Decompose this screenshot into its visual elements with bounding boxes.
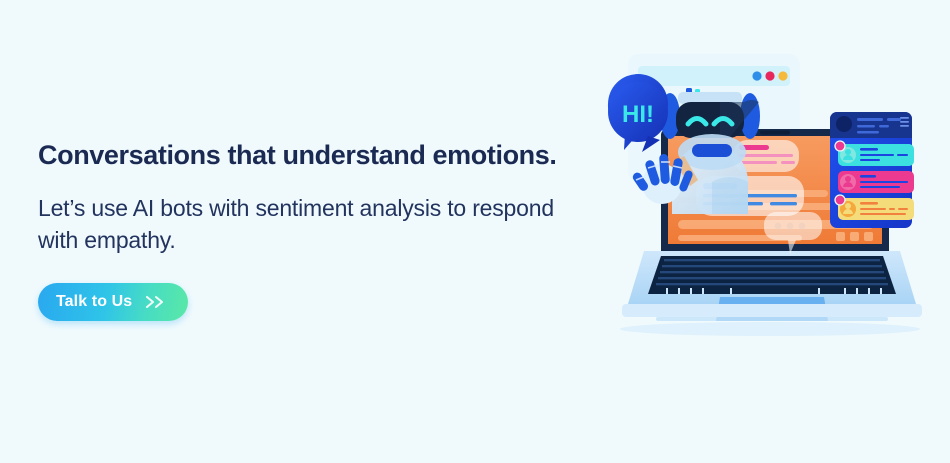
ai-chatbot-laptop-illustration: HI! [600, 44, 940, 344]
ground-shadow [620, 322, 920, 336]
hi-speech-bubble: HI! [608, 74, 668, 152]
chat-panel [830, 112, 914, 228]
badge-icon [835, 195, 845, 205]
laptop-base [622, 251, 922, 321]
promo-banner: Conversations that understand emotions. … [0, 0, 950, 463]
chat-message-row [835, 195, 914, 220]
robot-mouth [692, 144, 732, 157]
subheadline: Let’s use AI bots with sentiment analysi… [38, 193, 583, 256]
badge-icon [835, 141, 845, 151]
chat-message-row [838, 171, 914, 193]
page-title: Conversations that understand emotions. [38, 140, 608, 171]
cta-container: Talk to Us [38, 283, 188, 321]
window-dot-red [765, 71, 774, 80]
window-dot-blue [752, 71, 761, 80]
talk-to-us-button[interactable]: Talk to Us [38, 283, 188, 321]
chat-message-row [835, 141, 914, 166]
double-chevron-right-icon [145, 295, 171, 309]
panel-menu-icon [900, 117, 909, 127]
copy-block: Conversations that understand emotions. … [38, 140, 608, 257]
panel-avatar [836, 116, 852, 132]
cta-label: Talk to Us [56, 293, 132, 311]
hi-bubble-text: HI! [622, 101, 654, 128]
window-dot-yellow [778, 71, 787, 80]
